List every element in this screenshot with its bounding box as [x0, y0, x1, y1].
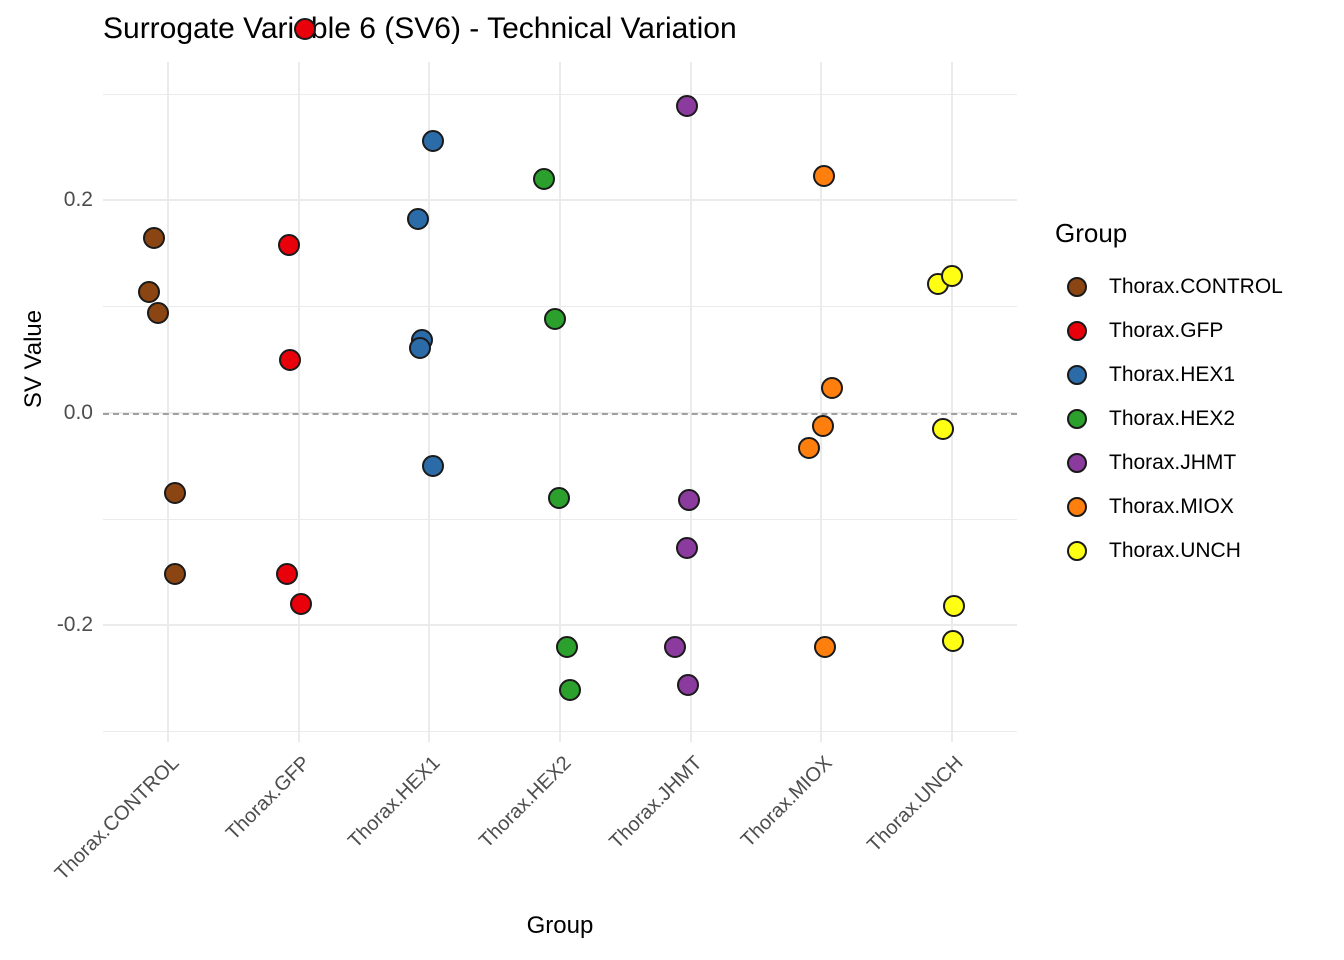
data-point[interactable] — [676, 537, 698, 559]
x-axis-label: Group — [103, 912, 1017, 940]
legend-dot-icon — [1067, 541, 1087, 561]
legend-item-label: Thorax.JHMT — [1109, 451, 1236, 475]
y-axis-label: SV Value — [20, 229, 48, 489]
data-point[interactable] — [676, 95, 698, 117]
data-point[interactable] — [559, 679, 581, 701]
legend-item[interactable]: Thorax.MIOX — [1055, 485, 1335, 529]
legend-rows: Thorax.CONTROLThorax.GFPThorax.HEX1Thora… — [1055, 265, 1335, 573]
legend-item-label: Thorax.HEX2 — [1109, 407, 1235, 431]
gridline-major-vertical — [298, 62, 300, 742]
legend: Group Thorax.CONTROLThorax.GFPThorax.HEX… — [1055, 218, 1335, 573]
legend-dot-icon — [1067, 321, 1087, 341]
gridline-major-vertical — [690, 62, 692, 742]
data-point[interactable] — [407, 208, 429, 230]
gridline-major-vertical — [428, 62, 430, 742]
data-point[interactable] — [409, 337, 431, 359]
x-axis-tick-label: Thorax.MIOX — [680, 752, 838, 910]
legend-item[interactable]: Thorax.JHMT — [1055, 441, 1335, 485]
legend-item-label: Thorax.UNCH — [1109, 539, 1241, 563]
data-point[interactable] — [548, 487, 570, 509]
zero-reference-line — [103, 413, 1017, 415]
data-point[interactable] — [678, 489, 700, 511]
data-point[interactable] — [276, 563, 298, 585]
legend-dot-icon — [1067, 409, 1087, 429]
data-point[interactable] — [138, 281, 160, 303]
legend-item[interactable]: Thorax.GFP — [1055, 309, 1335, 353]
legend-swatch — [1055, 277, 1099, 297]
y-axis-tick-label: 0.2 — [19, 188, 93, 212]
data-point[interactable] — [932, 418, 954, 440]
legend-swatch — [1055, 453, 1099, 473]
plot-panel — [103, 62, 1017, 742]
data-point[interactable] — [147, 302, 169, 324]
x-axis-tick-label: Thorax.CONTROL — [27, 752, 185, 910]
data-point[interactable] — [422, 130, 444, 152]
legend-title: Group — [1055, 218, 1335, 249]
data-point[interactable] — [813, 165, 835, 187]
page-title: Surrogate Variable 6 (SV6) - Technical V… — [103, 12, 737, 46]
data-point[interactable] — [556, 636, 578, 658]
legend-swatch — [1055, 409, 1099, 429]
legend-dot-icon — [1067, 497, 1087, 517]
data-point[interactable] — [278, 234, 300, 256]
legend-item[interactable]: Thorax.HEX1 — [1055, 353, 1335, 397]
legend-item[interactable]: Thorax.HEX2 — [1055, 397, 1335, 441]
legend-item-label: Thorax.MIOX — [1109, 495, 1234, 519]
data-point[interactable] — [164, 482, 186, 504]
data-point[interactable] — [290, 593, 312, 615]
legend-item-label: Thorax.GFP — [1109, 319, 1223, 343]
data-point[interactable] — [143, 227, 165, 249]
x-axis-tick-label: Thorax.JHMT — [549, 752, 707, 910]
x-axis-tick-label: Thorax.HEX2 — [419, 752, 577, 910]
legend-item[interactable]: Thorax.UNCH — [1055, 529, 1335, 573]
data-point[interactable] — [677, 674, 699, 696]
data-point[interactable] — [279, 349, 301, 371]
legend-swatch — [1055, 541, 1099, 561]
legend-swatch — [1055, 497, 1099, 517]
data-point[interactable] — [422, 455, 444, 477]
data-point[interactable] — [164, 563, 186, 585]
data-point[interactable] — [941, 265, 963, 287]
data-point[interactable] — [942, 630, 964, 652]
data-point[interactable] — [664, 636, 686, 658]
chart-root: Surrogate Variable 6 (SV6) - Technical V… — [0, 0, 1344, 960]
gridline-major-vertical — [167, 62, 169, 742]
data-point[interactable] — [814, 636, 836, 658]
y-axis-tick-label: -0.2 — [19, 613, 93, 637]
x-axis-tick-label: Thorax.UNCH — [810, 752, 968, 910]
legend-item-label: Thorax.HEX1 — [1109, 363, 1235, 387]
data-point[interactable] — [533, 168, 555, 190]
legend-dot-icon — [1067, 453, 1087, 473]
x-axis-tick-label: Thorax.HEX1 — [288, 752, 446, 910]
legend-swatch — [1055, 321, 1099, 341]
data-point[interactable] — [544, 308, 566, 330]
data-point[interactable] — [821, 377, 843, 399]
legend-swatch — [1055, 365, 1099, 385]
legend-dot-icon — [1067, 365, 1087, 385]
data-point[interactable] — [812, 415, 834, 437]
legend-item[interactable]: Thorax.CONTROL — [1055, 265, 1335, 309]
legend-dot-icon — [1067, 277, 1087, 297]
data-point[interactable] — [943, 595, 965, 617]
x-axis-tick-label: Thorax.GFP — [157, 752, 315, 910]
data-point[interactable] — [798, 437, 820, 459]
legend-item-label: Thorax.CONTROL — [1109, 275, 1283, 299]
